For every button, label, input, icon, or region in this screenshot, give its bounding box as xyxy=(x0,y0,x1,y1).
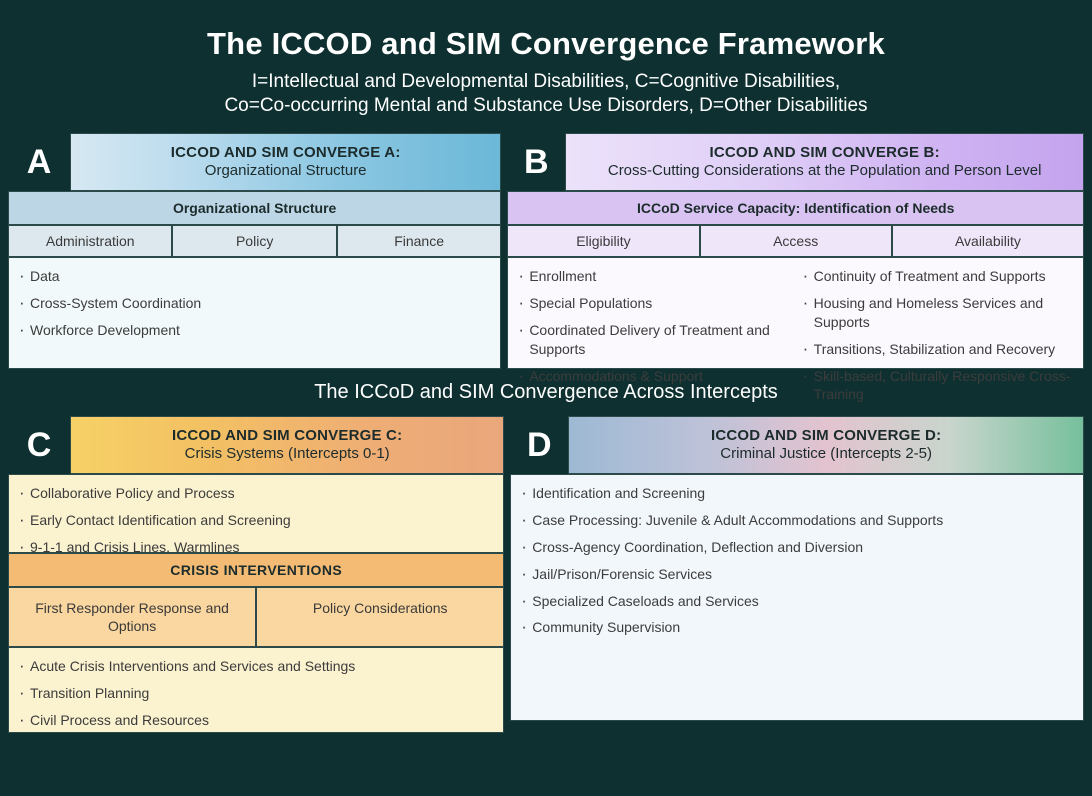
list-item: Coordinated Delivery of Treatment and Su… xyxy=(518,321,788,359)
list-item: Continuity of Treatment and Supports xyxy=(803,267,1073,286)
list-item: Specialized Caseloads and Services xyxy=(521,592,1073,611)
section-d-body: Identification and Screening Case Proces… xyxy=(510,474,1084,721)
list-item: Identification and Screening xyxy=(521,484,1073,503)
section-b-column-eligibility[interactable]: Eligibility xyxy=(507,225,699,257)
section-d: D ICCOD AND SIM CONVERGE D: Criminal Jus… xyxy=(510,416,1084,721)
section-a-letter-badge: A xyxy=(8,133,70,191)
section-a-columns: Administration Policy Finance xyxy=(8,225,501,257)
framework-infographic: The ICCOD and SIM Convergence Framework … xyxy=(0,0,1092,796)
section-c-banner[interactable]: ICCOD AND SIM CONVERGE C: Crisis Systems… xyxy=(70,416,504,474)
section-b-subheading: Cross-Cutting Considerations at the Popu… xyxy=(608,162,1042,180)
list-item: Collaborative Policy and Process xyxy=(19,484,493,503)
section-c-subheading: Crisis Systems (Intercepts 0-1) xyxy=(185,445,390,463)
top-half: A ICCOD AND SIM CONVERGE A: Organization… xyxy=(8,133,1084,369)
list-item: Transition Planning xyxy=(19,684,493,703)
section-a-column-finance[interactable]: Finance xyxy=(337,225,501,257)
section-a: A ICCOD AND SIM CONVERGE A: Organization… xyxy=(8,133,501,369)
section-a-column-policy[interactable]: Policy xyxy=(172,225,336,257)
section-b-banner[interactable]: ICCOD AND SIM CONVERGE B: Cross-Cutting … xyxy=(565,133,1084,191)
section-a-subheading: Organizational Structure xyxy=(205,162,367,180)
section-a-header-row: A ICCOD AND SIM CONVERGE A: Organization… xyxy=(8,133,501,191)
section-a-column-administration[interactable]: Administration xyxy=(8,225,172,257)
list-item: Cross-System Coordination xyxy=(19,294,490,313)
page-title: The ICCOD and SIM Convergence Framework xyxy=(28,26,1064,62)
section-c-bullet-list-bottom: Acute Crisis Interventions and Services … xyxy=(19,657,493,730)
list-item: Data xyxy=(19,267,490,286)
list-item: Acute Crisis Interventions and Services … xyxy=(19,657,493,676)
list-item: Accommodations & Support xyxy=(518,367,788,386)
section-a-band: Organizational Structure xyxy=(8,191,501,225)
subtitle-line-2: Co=Co-occurring Mental and Substance Use… xyxy=(28,94,1064,119)
list-item: Skill-based, Culturally Responsive Cross… xyxy=(803,367,1073,405)
section-a-banner[interactable]: ICCOD AND SIM CONVERGE A: Organizational… xyxy=(70,133,501,191)
section-c-header-row: C ICCOD AND SIM CONVERGE C: Crisis Syste… xyxy=(8,416,504,474)
list-item: Housing and Homeless Services and Suppor… xyxy=(803,294,1073,332)
section-c-heading: ICCOD AND SIM CONVERGE C: xyxy=(172,427,402,445)
section-b-bullet-list-right: Continuity of Treatment and Supports Hou… xyxy=(803,267,1073,404)
list-item: Jail/Prison/Forensic Services xyxy=(521,565,1073,584)
list-item: Enrollment xyxy=(518,267,788,286)
section-b-header-row: B ICCOD AND SIM CONVERGE B: Cross-Cuttin… xyxy=(507,133,1084,191)
section-a-heading: ICCOD AND SIM CONVERGE A: xyxy=(171,144,401,162)
section-c-band: CRISIS INTERVENTIONS xyxy=(8,553,504,587)
bottom-half: C ICCOD AND SIM CONVERGE C: Crisis Syste… xyxy=(8,416,1084,733)
section-c: C ICCOD AND SIM CONVERGE C: Crisis Syste… xyxy=(8,416,504,733)
section-b-bullet-list-left: Enrollment Special Populations Coordinat… xyxy=(518,267,788,385)
section-c-columns: First Responder Response and Options Pol… xyxy=(8,587,504,647)
section-c-bullet-list-top: Collaborative Policy and Process Early C… xyxy=(19,484,493,557)
section-c-column-first-responder[interactable]: First Responder Response and Options xyxy=(8,587,256,647)
section-c-letter-badge: C xyxy=(8,416,70,474)
section-b-column-access[interactable]: Access xyxy=(700,225,892,257)
list-item: Case Processing: Juvenile & Adult Accomm… xyxy=(521,511,1073,530)
list-item: Civil Process and Resources xyxy=(19,711,493,730)
list-item: Transitions, Stabilization and Recovery xyxy=(803,340,1073,359)
title-block: The ICCOD and SIM Convergence Framework … xyxy=(8,0,1084,133)
section-b-body: Enrollment Special Populations Coordinat… xyxy=(507,257,1084,369)
list-item: 9-1-1 and Crisis Lines, Warmlines xyxy=(19,538,493,557)
subtitle-line-1: I=Intellectual and Developmental Disabil… xyxy=(28,70,1064,95)
section-d-heading: ICCOD AND SIM CONVERGE D: xyxy=(711,427,941,445)
list-item: Community Supervision xyxy=(521,618,1073,637)
section-d-subheading: Criminal Justice (Intercepts 2-5) xyxy=(720,445,932,463)
section-a-bullet-list: Data Cross-System Coordination Workforce… xyxy=(19,267,490,340)
section-d-header-row: D ICCOD AND SIM CONVERGE D: Criminal Jus… xyxy=(510,416,1084,474)
section-c-body-bottom: Acute Crisis Interventions and Services … xyxy=(8,647,504,733)
section-b-letter-badge: B xyxy=(507,133,565,191)
section-d-letter-badge: D xyxy=(510,416,568,474)
section-d-bullet-list: Identification and Screening Case Proces… xyxy=(521,484,1073,637)
list-item: Cross-Agency Coordination, Deflection an… xyxy=(521,538,1073,557)
section-b-column-availability[interactable]: Availability xyxy=(892,225,1084,257)
list-item: Special Populations xyxy=(518,294,788,313)
list-item: Early Contact Identification and Screeni… xyxy=(19,511,493,530)
section-b-band: ICCoD Service Capacity: Identification o… xyxy=(507,191,1084,225)
section-c-body-top: Collaborative Policy and Process Early C… xyxy=(8,474,504,553)
section-b-heading: ICCOD AND SIM CONVERGE B: xyxy=(710,144,940,162)
section-c-column-policy-considerations[interactable]: Policy Considerations xyxy=(256,587,504,647)
section-b: B ICCOD AND SIM CONVERGE B: Cross-Cuttin… xyxy=(507,133,1084,369)
section-b-columns: Eligibility Access Availability xyxy=(507,225,1084,257)
list-item: Workforce Development xyxy=(19,321,490,340)
section-d-banner[interactable]: ICCOD AND SIM CONVERGE D: Criminal Justi… xyxy=(568,416,1084,474)
section-a-body: Data Cross-System Coordination Workforce… xyxy=(8,257,501,369)
